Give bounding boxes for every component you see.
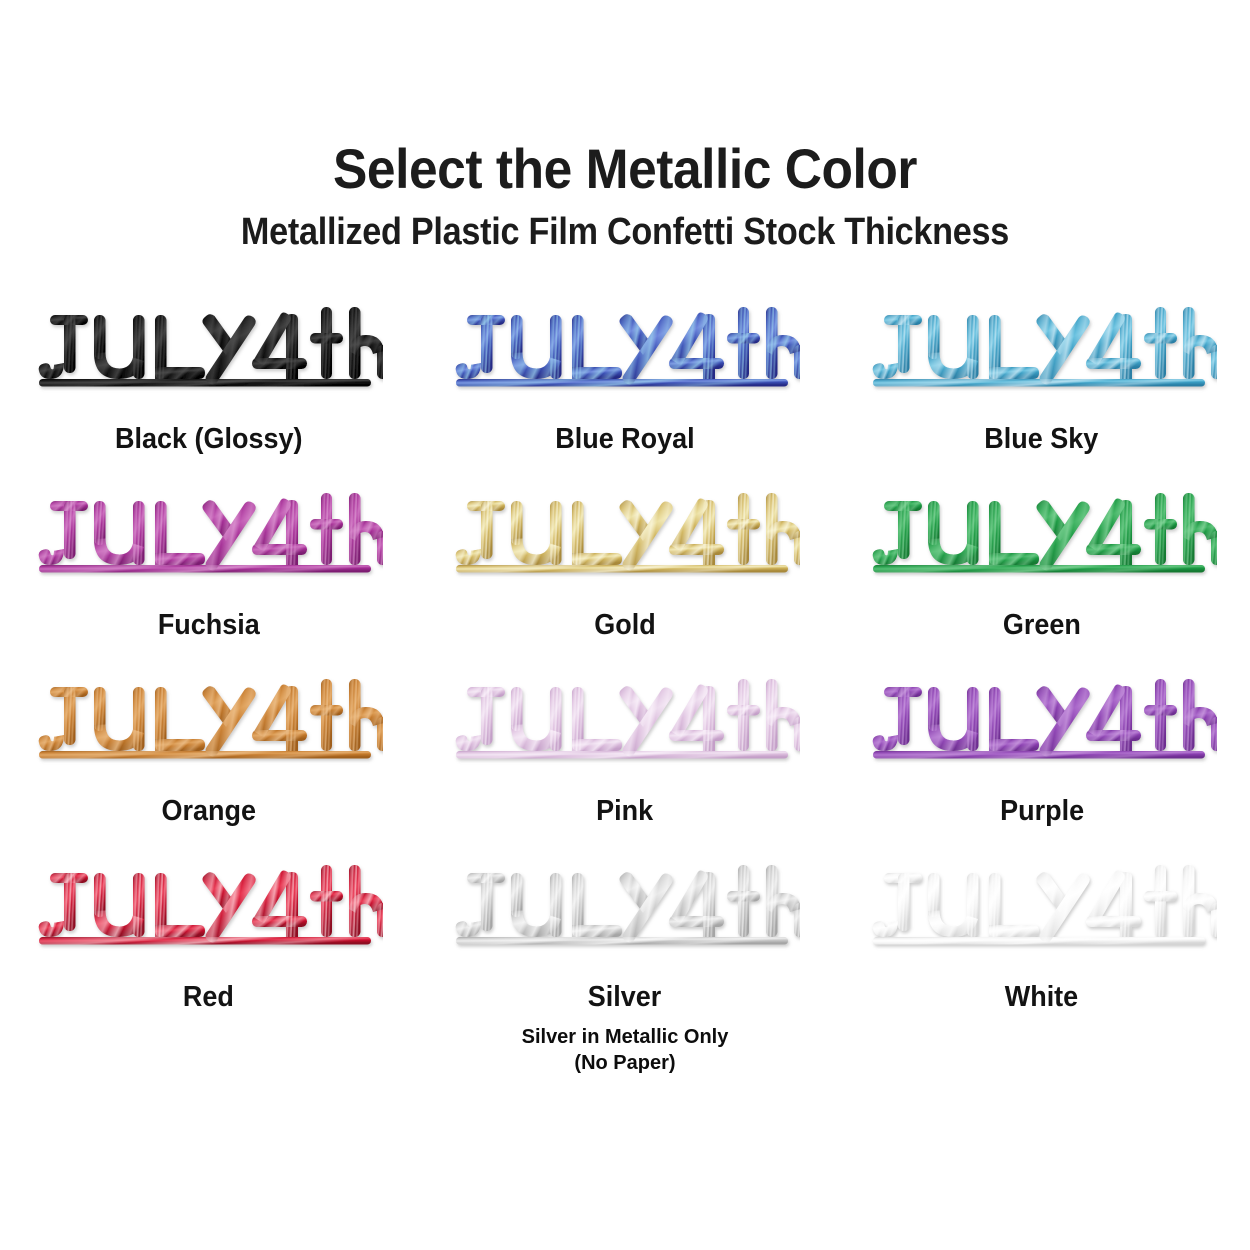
color-label: Blue Sky [985,423,1099,456]
color-label: Purple [1000,795,1084,828]
color-option-blue-royal[interactable]: Blue Royal [417,301,834,487]
july-4th-swatch-icon[interactable] [33,673,383,769]
color-label: Red [183,981,234,1014]
july-4th-swatch-icon[interactable] [33,859,383,955]
color-option-fuchsia[interactable]: Fuchsia [0,487,417,673]
color-label: Gold [594,609,655,642]
color-swatch-grid: Black (Glossy) [0,301,1250,1045]
color-option-gold[interactable]: Gold [417,487,834,673]
color-option-white[interactable]: White [833,859,1250,1045]
page-title: Select the Metallic Color [50,140,1200,199]
color-label: Pink [597,795,654,828]
color-option-purple[interactable]: Purple [833,673,1250,859]
color-selection-page: Select the Metallic Color Metallized Pla… [0,0,1250,1250]
color-label: Silver [588,981,661,1014]
july-4th-swatch-icon[interactable] [33,487,383,583]
color-option-pink[interactable]: Pink [417,673,834,859]
july-4th-swatch-icon[interactable] [867,487,1217,583]
july-4th-swatch-icon[interactable] [867,301,1217,397]
july-4th-swatch-icon[interactable] [450,487,800,583]
color-label: Orange [161,795,255,828]
color-label: Fuchsia [157,609,259,642]
color-option-black-glossy[interactable]: Black (Glossy) [0,301,417,487]
july-4th-swatch-icon[interactable] [450,673,800,769]
color-option-red[interactable]: Red [0,859,417,1045]
color-option-silver[interactable]: SilverSilver in Metallic Only (No Paper) [417,859,834,1045]
july-4th-swatch-icon[interactable] [450,859,800,955]
july-4th-swatch-icon[interactable] [450,301,800,397]
color-label: Black (Glossy) [115,423,302,456]
july-4th-swatch-icon[interactable] [867,673,1217,769]
color-availability-note: Silver in Metallic Only (No Paper) [522,1024,729,1077]
page-header: Select the Metallic Color Metallized Pla… [0,0,1250,253]
color-option-blue-sky[interactable]: Blue Sky [833,301,1250,487]
page-subtitle: Metallized Plastic Film Confetti Stock T… [63,213,1188,253]
color-option-green[interactable]: Green [833,487,1250,673]
july-4th-swatch-icon[interactable] [33,301,383,397]
color-label: Green [1003,609,1081,642]
color-option-orange[interactable]: Orange [0,673,417,859]
july-4th-swatch-icon[interactable] [867,859,1217,955]
color-label: Blue Royal [555,423,694,456]
color-label: White [1005,981,1078,1014]
